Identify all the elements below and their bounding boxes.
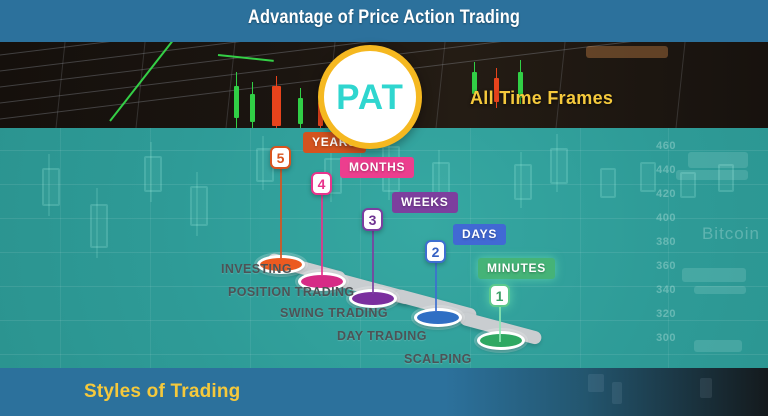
- axis-label: 400: [636, 212, 676, 224]
- axis-label: 340: [636, 284, 676, 296]
- step-badge-1[interactable]: 1: [489, 284, 510, 307]
- infographic-canvas: 460 440 420 400 380 360 340 320 300 Bitc…: [0, 0, 768, 416]
- pat-logo-badge: PAT: [318, 45, 422, 149]
- page-title: Advantage of Price Action Trading: [54, 7, 714, 29]
- axis-label: 420: [636, 188, 676, 200]
- timeline-node-day-trading[interactable]: [414, 308, 462, 327]
- step-badge-3[interactable]: 3: [362, 208, 383, 231]
- axis-label: 300: [636, 332, 676, 344]
- style-label-position-trading: POSITION TRADING: [228, 285, 355, 299]
- axis-label: 320: [636, 308, 676, 320]
- timeframe-pill-weeks[interactable]: WEEKS: [392, 192, 458, 213]
- step-badge-4[interactable]: 4: [311, 172, 332, 195]
- axis-label: 360: [636, 260, 676, 272]
- step-badge-2[interactable]: 2: [425, 240, 446, 263]
- axis-label: 460: [636, 140, 676, 152]
- footer-band: Styles of Trading: [0, 368, 768, 416]
- step-badge-5[interactable]: 5: [270, 146, 291, 169]
- step-stem-5: [280, 166, 282, 258]
- step-stem-4: [321, 192, 323, 276]
- bitcoin-watermark: Bitcoin: [702, 224, 760, 244]
- header-band: Advantage of Price Action Trading: [0, 0, 768, 42]
- pat-label: PAT: [336, 80, 404, 115]
- style-label-scalping: SCALPING: [404, 352, 472, 366]
- step-stem-2: [435, 260, 437, 312]
- timeframe-pill-days[interactable]: DAYS: [453, 224, 506, 245]
- pat-circle: PAT: [318, 45, 422, 149]
- style-label-swing-trading: SWING TRADING: [280, 306, 388, 320]
- all-time-frames-caption: All Time Frames: [470, 88, 613, 109]
- timeframe-pill-months[interactable]: MONTHS: [340, 157, 414, 178]
- timeline-node-scalping[interactable]: [477, 331, 525, 350]
- timeframe-pill-minutes[interactable]: MINUTES: [478, 258, 555, 279]
- step-stem-1: [499, 304, 501, 342]
- step-stem-3: [372, 228, 374, 294]
- axis-label: 440: [636, 164, 676, 176]
- style-label-investing: INVESTING: [221, 262, 292, 276]
- style-label-day-trading: DAY TRADING: [337, 329, 427, 343]
- axis-label: 380: [636, 236, 676, 248]
- footer-title: Styles of Trading: [84, 381, 241, 403]
